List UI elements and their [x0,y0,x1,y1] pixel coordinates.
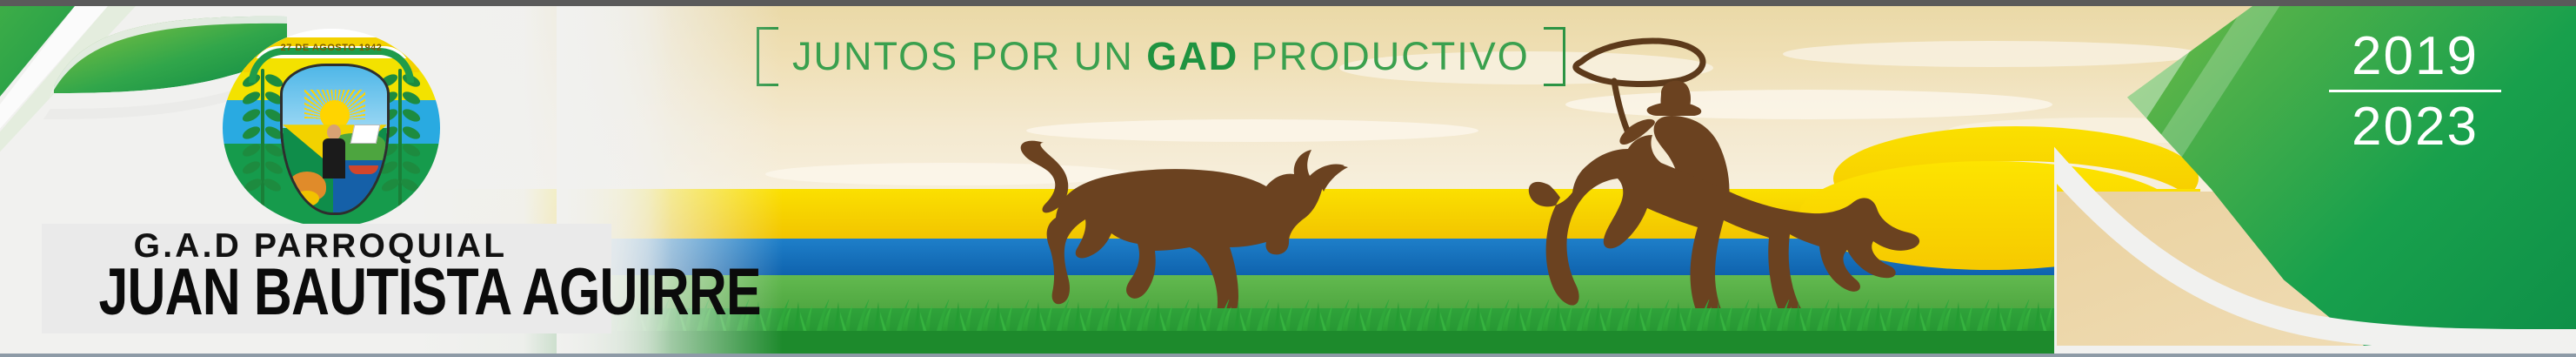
name-plate: G.A.D PARROQUIAL JUAN BAUTISTA AGUIRRE [42,224,611,333]
coat-of-arms: 27 DE AGOSTO 1942 [223,13,440,227]
org-name: JUAN BAUTISTA AGUIRRE [99,259,555,327]
period-years: 2019 2023 [2324,25,2506,158]
institutional-banner: 2019 2023 JUNTOS POR UN GAD PRODUCTIVO [0,0,2576,357]
crest-shield [280,64,390,215]
ribbon-arc-green [249,48,414,83]
slogan-part-1: JUNTOS POR UN [792,34,1146,78]
year-start: 2019 [2324,25,2506,88]
year-end: 2023 [2324,96,2506,158]
shield-portrait-body [323,138,345,178]
crest-oval: 27 DE AGOSTO 1942 [223,29,440,227]
wreath-left-icon [238,64,287,216]
year-divider [2329,90,2501,92]
slogan-part-2: PRODUCTIVO [1238,34,1530,78]
slogan-text: JUNTOS POR UN GAD PRODUCTIVO [792,34,1530,79]
slogan-highlight: GAD [1146,34,1238,78]
shield-book-icon [350,125,381,144]
slogan-block: JUNTOS POR UN GAD PRODUCTIVO [757,22,1565,91]
crest-motto-text: 27 DE AGOSTO 1942 [244,43,419,53]
period-panel: 2019 2023 [2054,6,2576,357]
bracket-right-icon [1544,27,1565,86]
shield-portrait [323,125,345,178]
crest-motto-ribbon: 27 DE AGOSTO 1942 [244,37,419,76]
